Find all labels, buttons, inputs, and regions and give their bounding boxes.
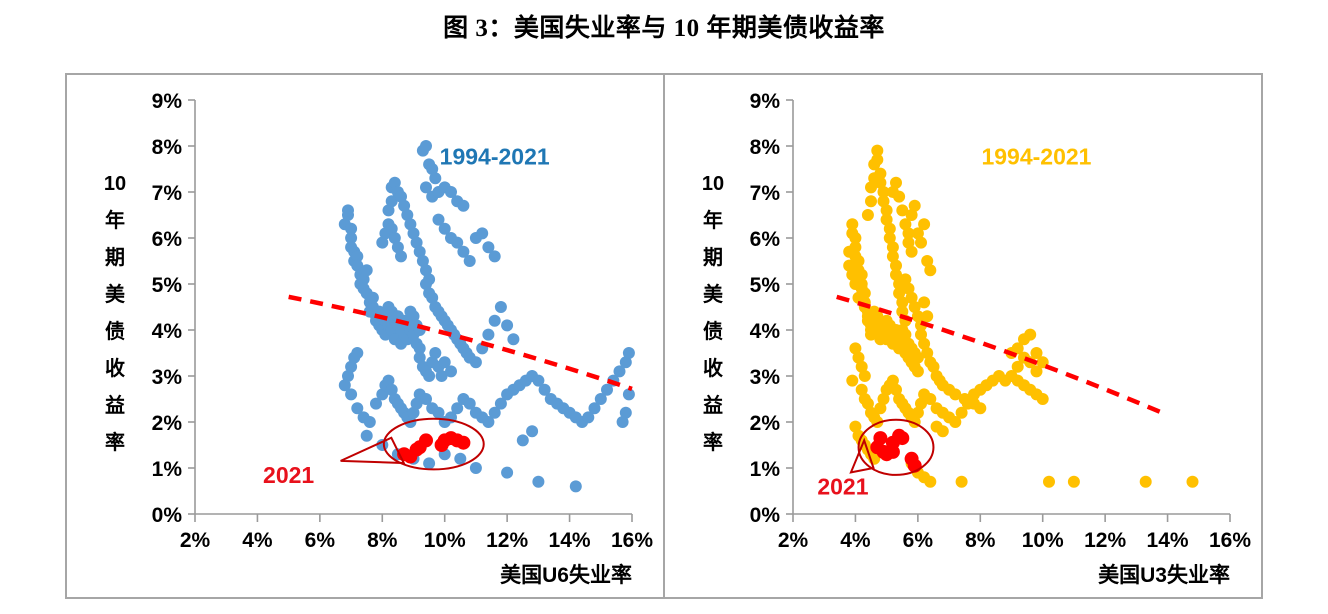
data-point: [445, 365, 457, 377]
data-point: [862, 209, 874, 221]
data-point: [843, 246, 855, 258]
y-axis-ticks: 0%1%2%3%4%5%6%7%8%9%: [750, 90, 793, 527]
series-label-1994-2021: 1994-2021: [981, 143, 1091, 169]
data-point: [367, 292, 379, 304]
x-tick-label: 2%: [778, 529, 809, 552]
x-tick-label: 8%: [367, 529, 398, 552]
data-point: [843, 260, 855, 272]
series-label-1994-2021: 1994-2021: [440, 143, 550, 169]
x-tick-label: 6%: [305, 529, 336, 552]
y-axis-title-char: 10: [104, 173, 126, 195]
data-point: [395, 250, 407, 262]
data-point: [351, 347, 363, 359]
y-axis-title-char: 年: [703, 208, 723, 232]
y-tick-label: 8%: [750, 136, 781, 159]
data-point: [918, 218, 930, 230]
data-point: [912, 365, 924, 377]
y-axis-title-char: 率: [703, 430, 723, 454]
data-point: [517, 434, 529, 446]
data-point: [859, 370, 871, 382]
x-tick-label: 4%: [840, 529, 871, 552]
data-point: [870, 440, 884, 454]
y-axis-title: 10年期美债收益率: [702, 173, 724, 454]
data-point: [501, 467, 513, 479]
y-axis-ticks: 0%1%2%3%4%5%6%7%8%9%: [152, 90, 195, 527]
y-axis-title-char: 期: [105, 246, 125, 269]
data-point: [339, 379, 351, 391]
data-point: [886, 436, 900, 450]
y-tick-label: 9%: [152, 90, 183, 113]
y-tick-label: 6%: [750, 228, 781, 251]
data-point: [456, 436, 470, 450]
x-tick-label: 6%: [903, 529, 934, 552]
x-axis-ticks: 2%4%6%8%10%12%14%16%: [180, 514, 654, 552]
y-tick-label: 0%: [750, 504, 781, 527]
data-point: [924, 476, 936, 488]
data-point: [1068, 476, 1080, 488]
x-tick-label: 8%: [965, 529, 996, 552]
data-point: [956, 476, 968, 488]
data-point: [413, 440, 427, 454]
y-axis-title-char: 益: [105, 393, 125, 417]
data-point: [420, 140, 432, 152]
data-point: [489, 315, 501, 327]
y-axis-title-char: 美: [105, 282, 126, 306]
y-tick-label: 0%: [152, 504, 183, 527]
y-axis-title-char: 率: [105, 430, 125, 454]
data-point: [1043, 476, 1055, 488]
data-point: [570, 480, 582, 492]
chart-panel-u6: 0%1%2%3%4%5%6%7%8%9%2%4%6%8%10%12%14%16%…: [65, 73, 665, 599]
x-axis-ticks: 2%4%6%8%10%12%14%16%: [778, 514, 1252, 552]
x-tick-label: 4%: [242, 529, 273, 552]
data-point: [342, 204, 354, 216]
x-tick-label: 16%: [1209, 529, 1251, 552]
x-tick-label: 10%: [424, 529, 466, 552]
y-tick-label: 1%: [152, 458, 183, 481]
y-axis-title-char: 收: [105, 356, 125, 380]
y-tick-label: 9%: [750, 90, 781, 113]
data-point: [924, 264, 936, 276]
data-point: [532, 476, 544, 488]
x-tick-label: 14%: [1147, 529, 1189, 552]
data-point: [476, 227, 488, 239]
x-tick-label: 12%: [1084, 529, 1126, 552]
y-axis-title-char: 10: [702, 173, 724, 195]
data-point: [906, 246, 918, 258]
data-point: [1037, 393, 1049, 405]
y-tick-label: 8%: [152, 136, 183, 159]
data-point: [364, 416, 376, 428]
data-point: [429, 347, 441, 359]
x-tick-label: 14%: [549, 529, 591, 552]
data-point: [617, 416, 629, 428]
data-point: [423, 370, 435, 382]
y-tick-label: 4%: [152, 320, 183, 343]
data-point: [482, 329, 494, 341]
y-axis-title-char: 益: [703, 393, 723, 417]
data-point: [999, 375, 1011, 387]
data-point: [470, 356, 482, 368]
y-axis-title-char: 债: [105, 319, 125, 343]
data-point: [526, 425, 538, 437]
data-point: [896, 204, 908, 216]
data-point: [429, 172, 441, 184]
data-point: [495, 301, 507, 313]
y-tick-label: 7%: [152, 182, 183, 205]
y-tick-label: 4%: [750, 320, 781, 343]
data-point: [507, 333, 519, 345]
page-title: 图 3：美国失业率与 10 年期美债收益率: [0, 8, 1328, 44]
data-point: [489, 250, 501, 262]
x-tick-label: 12%: [486, 529, 528, 552]
y-tick-label: 2%: [750, 412, 781, 435]
y-tick-label: 3%: [152, 366, 183, 389]
data-point: [915, 237, 927, 249]
chart-panel-u3: 0%1%2%3%4%5%6%7%8%9%2%4%6%8%10%12%14%16%…: [663, 73, 1263, 599]
data-point: [846, 375, 858, 387]
x-tick-label: 10%: [1022, 529, 1064, 552]
data-point: [937, 425, 949, 437]
data-point: [871, 154, 883, 166]
x-axis-title: 美国U6失业率: [500, 563, 632, 587]
data-point: [501, 319, 513, 331]
data-point: [457, 200, 469, 212]
data-point: [1187, 476, 1199, 488]
y-axis-title: 10年期美债收益率: [104, 173, 126, 454]
y-tick-label: 6%: [152, 228, 183, 251]
data-point: [464, 255, 476, 267]
y-tick-label: 2%: [152, 412, 183, 435]
y-tick-label: 5%: [152, 274, 183, 297]
data-point: [361, 264, 373, 276]
y-axis-title-char: 年: [105, 208, 125, 232]
data-point: [438, 433, 452, 447]
data-point: [361, 430, 373, 442]
scatter-chart-u3: 0%1%2%3%4%5%6%7%8%9%2%4%6%8%10%12%14%16%…: [665, 75, 1265, 601]
scatter-chart-u6: 0%1%2%3%4%5%6%7%8%9%2%4%6%8%10%12%14%16%…: [67, 75, 667, 601]
x-tick-label: 16%: [611, 529, 653, 552]
y-axis-title-char: 收: [703, 356, 723, 380]
data-point: [1024, 329, 1036, 341]
series-2021-points: [870, 429, 921, 473]
data-point: [909, 200, 921, 212]
y-tick-label: 1%: [750, 458, 781, 481]
annotation-2021-label: 2021: [263, 462, 314, 488]
data-point: [423, 457, 435, 469]
data-point: [470, 462, 482, 474]
data-point: [890, 177, 902, 189]
data-point: [974, 402, 986, 414]
y-tick-label: 7%: [750, 182, 781, 205]
y-tick-label: 5%: [750, 274, 781, 297]
data-point: [1140, 476, 1152, 488]
y-axis-title-char: 美: [703, 282, 724, 306]
x-tick-label: 2%: [180, 529, 211, 552]
x-axis-title: 美国U3失业率: [1098, 563, 1230, 587]
y-axis-title-char: 期: [703, 246, 723, 269]
annotation-2021-label: 2021: [817, 473, 868, 499]
y-axis-title-char: 债: [703, 319, 723, 343]
data-point: [893, 191, 905, 203]
data-point: [623, 347, 635, 359]
y-tick-label: 3%: [750, 366, 781, 389]
data-point: [865, 195, 877, 207]
